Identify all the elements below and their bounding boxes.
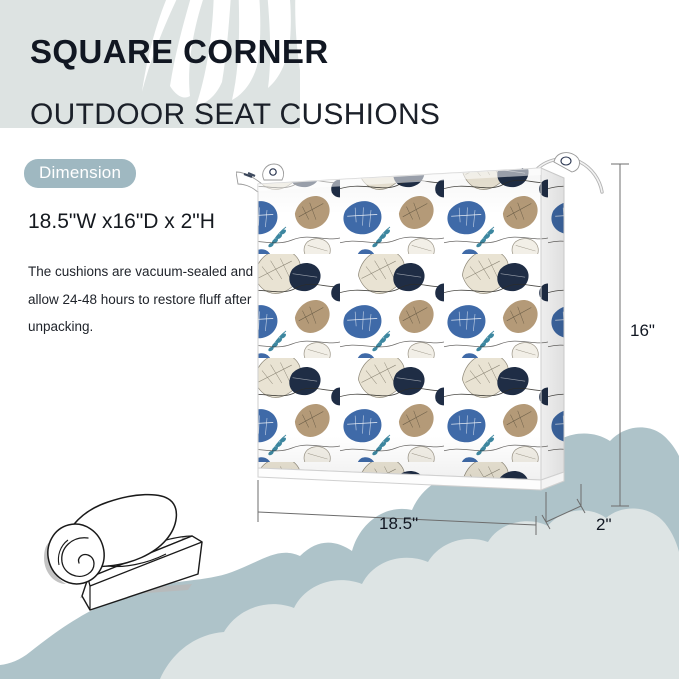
dimension-summary: 18.5"W x16"D x 2"H bbox=[28, 210, 215, 234]
infographic-canvas: SQUARE CORNER OUTDOOR SEAT CUSHIONS Dime… bbox=[0, 0, 679, 679]
dimension-badge: Dimension bbox=[24, 159, 136, 188]
height-measurement-label: 2" bbox=[596, 515, 612, 535]
width-measurement-label: 18.5" bbox=[379, 514, 418, 534]
depth-measurement-label: 16" bbox=[630, 321, 655, 341]
rolled-foam-illustration bbox=[28, 478, 258, 618]
page-subtitle: OUTDOOR SEAT CUSHIONS bbox=[30, 98, 440, 132]
page-title: SQUARE CORNER bbox=[30, 33, 329, 71]
dimension-callouts bbox=[236, 150, 679, 550]
